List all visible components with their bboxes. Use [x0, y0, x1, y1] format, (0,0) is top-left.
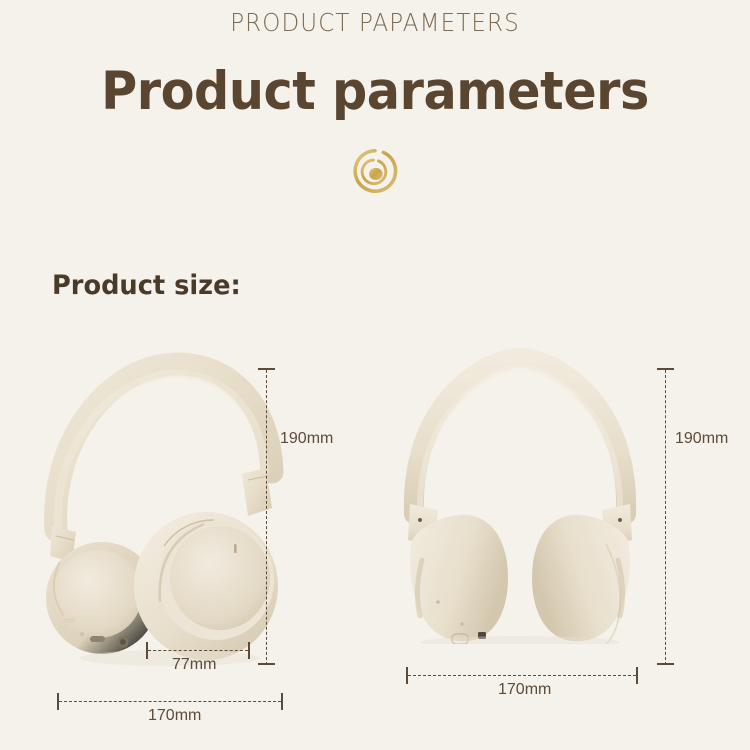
headphones-angled-view	[20, 340, 320, 670]
page-title: Product parameters	[26, 61, 724, 122]
dimension-cap-right	[636, 667, 638, 684]
page-header: PRODUCT PAPAMETERS Product parameters	[0, 0, 750, 122]
music-note-circle-icon	[348, 144, 402, 198]
headphones-angled-view-panel: 190mm 77mm 170mm	[0, 330, 380, 750]
width-dimension-label: 170mm	[498, 681, 551, 699]
dimension-line-horizontal	[408, 675, 636, 676]
headphones-front-view-panel: 190mm 170mm	[380, 330, 750, 750]
height-dimension-label: 190mm	[675, 430, 728, 448]
dimension-line-horizontal	[59, 701, 281, 702]
dimension-cap-bottom	[657, 663, 674, 665]
dimension-cap-bottom	[258, 663, 275, 665]
dimension-cap-right	[248, 642, 250, 659]
width-dimension-label: 170mm	[148, 707, 201, 725]
dimension-line-vertical	[665, 370, 666, 665]
product-size-label: Product size:	[52, 270, 241, 301]
height-dimension-label: 190mm	[280, 430, 333, 448]
headphones-front-view	[390, 344, 650, 644]
product-size-diagram: 190mm 77mm 170mm	[0, 330, 750, 750]
dimension-line-horizontal	[148, 650, 248, 651]
dimension-line-vertical	[266, 370, 267, 665]
brand-icon-container	[0, 144, 750, 198]
eyebrow-subtitle: PRODUCT PAPAMETERS	[30, 8, 720, 37]
dimension-cap-right	[281, 693, 283, 710]
depth-dimension-label: 77mm	[172, 656, 216, 674]
